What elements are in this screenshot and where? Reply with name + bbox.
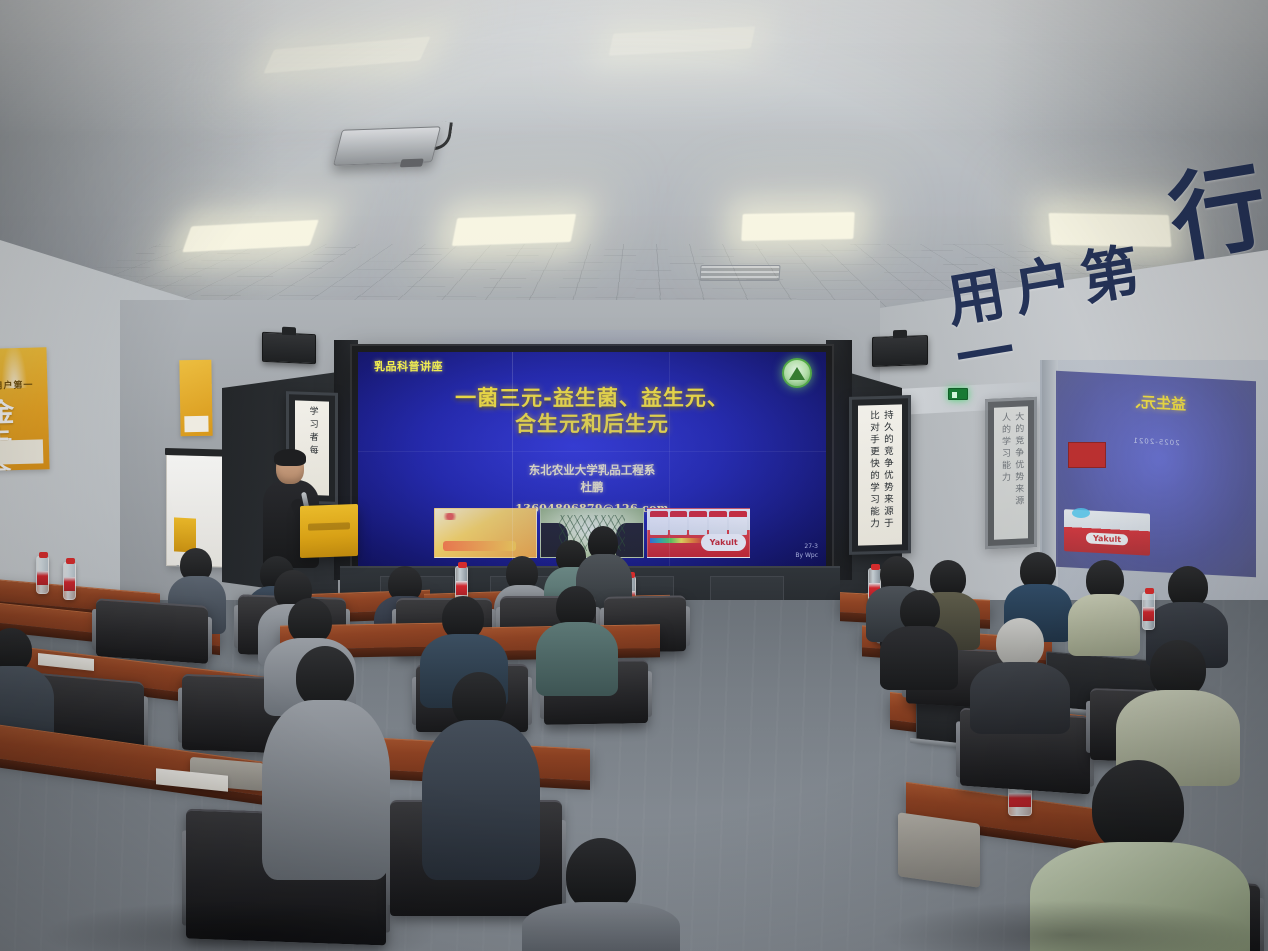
slide-header: 乳品科普讲座 bbox=[374, 358, 443, 374]
slide-subtitle: 东北农业大学乳品工程系 杜鹏 bbox=[358, 462, 826, 495]
water-bottle bbox=[63, 562, 76, 600]
slide-title: 一菌三元-益生菌、益生元、 合生元和后生元 bbox=[358, 386, 826, 437]
conference-room-photo: 用户第一 行 用户第一 金 元 生 会 乳品科普讲座 一菌三元-益生菌、益生元、… bbox=[0, 0, 1268, 951]
slide-affiliation: 东北农业大学乳品工程系 bbox=[358, 462, 826, 479]
green-triangle-emblem-icon bbox=[782, 358, 812, 388]
water-bottle bbox=[36, 556, 49, 594]
hvac-vent bbox=[699, 265, 780, 281]
podium bbox=[300, 504, 358, 558]
calligraphy-scroll-far-right: 人的学习能力 大的竞争优势来源 bbox=[985, 397, 1037, 549]
chair[interactable] bbox=[96, 598, 208, 664]
wall-speaker-left bbox=[262, 332, 316, 364]
yakult-logo: Yakult bbox=[701, 534, 746, 551]
scroll-far-col-1: 大的竞争优势来源 bbox=[1012, 411, 1023, 507]
red-wall-sign bbox=[1068, 442, 1106, 468]
slide-presenter-name: 杜鹏 bbox=[358, 479, 826, 496]
reflection-title: 益生元、 bbox=[1056, 389, 1256, 417]
slide-title-line-1: 一菌三元-益生菌、益生元、 bbox=[358, 386, 826, 412]
slide-corner-note-1: 27-3 bbox=[795, 542, 818, 551]
ceiling-panel-light bbox=[452, 214, 576, 246]
blue-marker bbox=[1072, 508, 1090, 518]
slide-corner-note-2: By Wpc bbox=[795, 551, 818, 560]
exit-sign bbox=[948, 388, 968, 400]
slide-title-line-2: 合生元和后生元 bbox=[358, 412, 826, 438]
scroll-right-col-2: 比对手更快的学习能力 bbox=[867, 410, 879, 530]
slide-corner-note: 27-3 By Wpc bbox=[795, 542, 818, 560]
yakult-bottles-image: Yakult bbox=[647, 508, 750, 558]
ceiling-projector bbox=[333, 126, 441, 165]
ceiling-panel-light bbox=[741, 212, 855, 241]
glass-partition: 益生元、 2025-2021 bbox=[1040, 360, 1268, 600]
left-wall-poster-secondary bbox=[179, 360, 212, 437]
wall-speaker-right bbox=[872, 335, 928, 367]
bag bbox=[898, 812, 980, 888]
yellow-dairy-package-image bbox=[434, 508, 537, 558]
poster-small-text: 用户第一 bbox=[0, 378, 34, 392]
scroll-left-text: 学习者每 bbox=[306, 406, 317, 458]
ceiling-panel-light bbox=[1048, 213, 1171, 247]
left-wall-poster: 用户第一 金 元 生 会 bbox=[0, 347, 50, 470]
scroll-right-col-1: 持久的竞争优势来源于 bbox=[881, 410, 893, 530]
calligraphy-scroll-right: 比对手更快的学习能力 持久的竞争优势来源于 bbox=[849, 395, 911, 555]
poster-white-band bbox=[0, 439, 43, 464]
water-bottle bbox=[1142, 592, 1155, 630]
scroll-far-col-2: 人的学习能力 bbox=[999, 412, 1010, 484]
slide-reflection: 益生元、 2025-2021 bbox=[1056, 371, 1256, 577]
